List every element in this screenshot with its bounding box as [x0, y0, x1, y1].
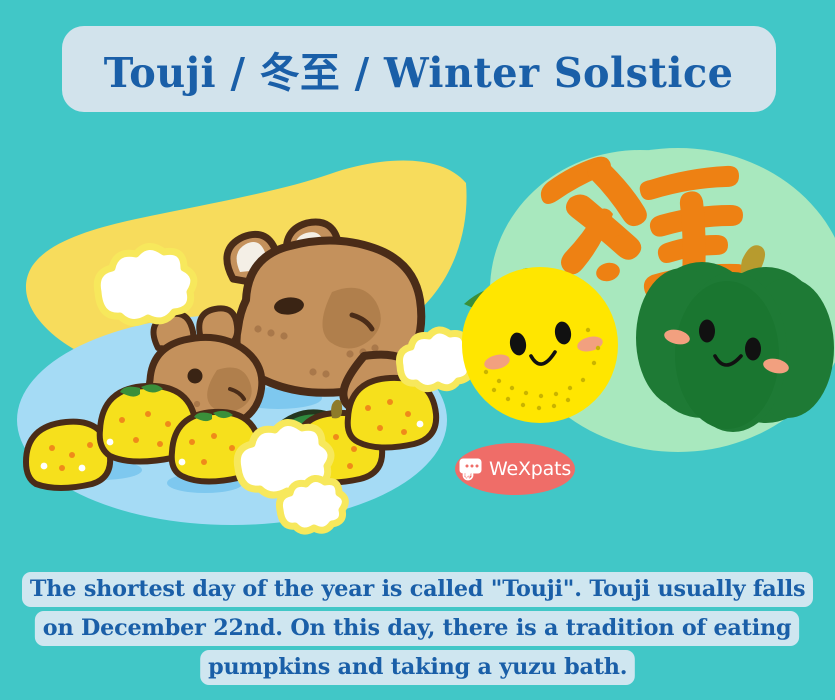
caption-line-3: pumpkins and taking a yuzu bath.: [200, 650, 635, 685]
pumpkin-eye-right: [745, 338, 761, 361]
poster-canvas: Touji / 冬至 / Winter Solstice WeXpats The…: [0, 0, 835, 700]
pumpkin-eye-left: [699, 320, 715, 343]
capybara-child-eye: [188, 369, 203, 384]
speech-bubble-globe-icon: [459, 456, 485, 482]
wexpats-logo-text: WeXpats: [489, 458, 571, 480]
caption-line-2: on December 22nd. On this day, there is …: [35, 611, 799, 646]
title-banner: Touji / 冬至 / Winter Solstice: [62, 26, 776, 112]
caption-block: The shortest day of the year is called "…: [0, 572, 835, 685]
page-title: Touji / 冬至 / Winter Solstice: [104, 39, 734, 99]
yuzu-character: [462, 267, 618, 423]
pumpkin-front-lobe: [675, 281, 779, 429]
wexpats-logo[interactable]: WeXpats: [455, 443, 575, 495]
steam-puff-e: [279, 478, 345, 531]
caption-line-1: The shortest day of the year is called "…: [22, 572, 813, 607]
